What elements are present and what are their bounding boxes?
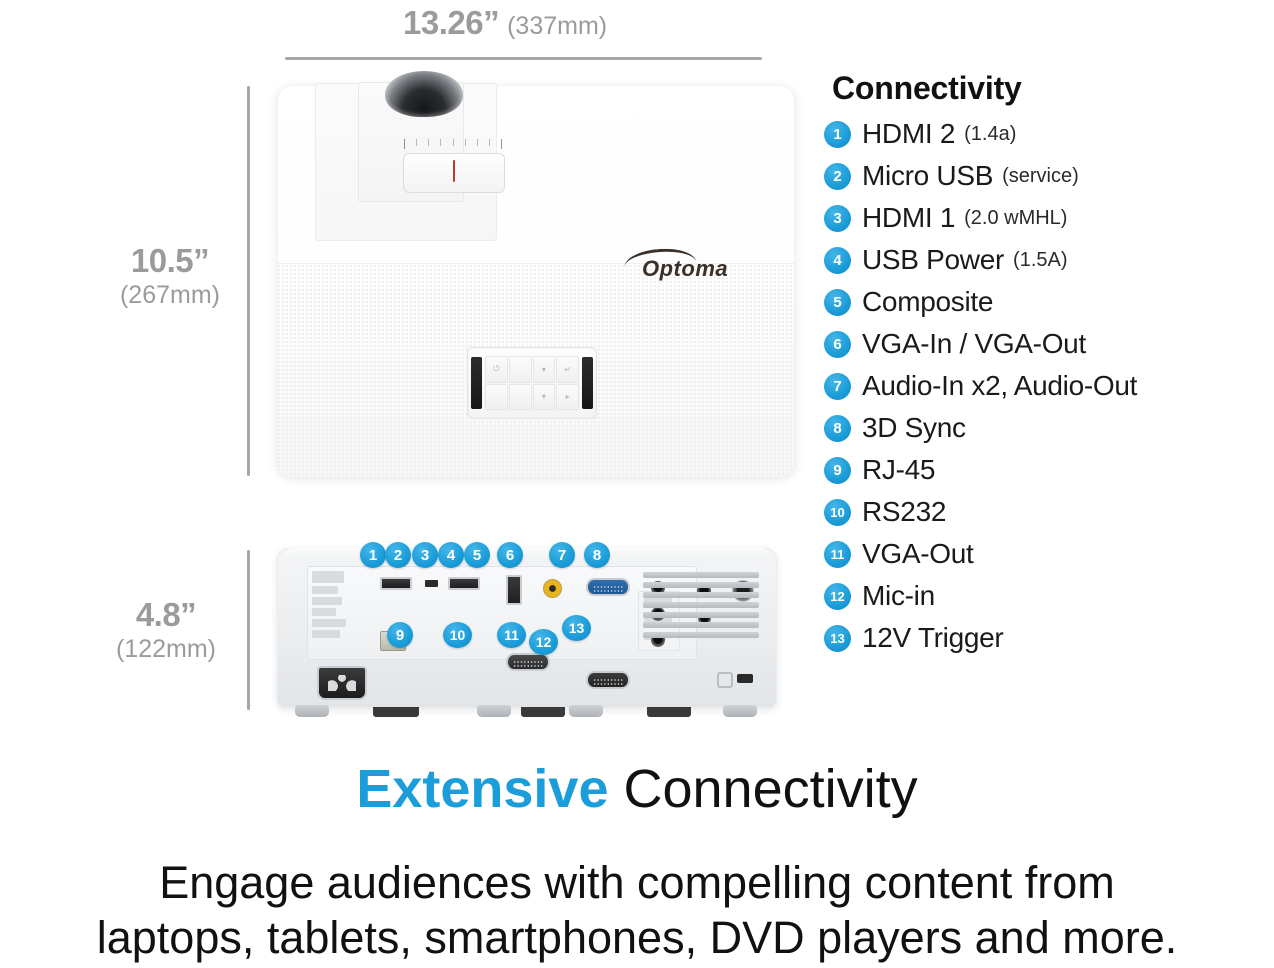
- list-item: 13 12V Trigger: [824, 617, 1274, 659]
- projector-foot: [477, 705, 511, 717]
- rear-base-dark-1: [373, 707, 419, 717]
- projector-foot: [723, 705, 757, 717]
- tagline-line-1: Engage audiences with compelling content…: [0, 856, 1274, 911]
- kensington-lock-slot: [737, 674, 753, 683]
- headline-accent: Extensive: [356, 759, 623, 819]
- panel-edge-right: [582, 357, 593, 409]
- rear-callout-9: 9: [387, 622, 413, 648]
- connectivity-label: Composite: [862, 286, 993, 318]
- port-usb-power: [506, 575, 522, 605]
- connectivity-note: (2.0 wMHL): [964, 207, 1067, 230]
- key-right[interactable]: ▸: [556, 384, 579, 411]
- list-item: 12 Mic-in: [824, 575, 1274, 617]
- port-micro-usb: [425, 580, 438, 587]
- dimension-depth-mm: (122mm): [96, 637, 236, 662]
- connectivity-badge: 9: [824, 457, 851, 484]
- key-up[interactable]: ▾: [533, 356, 556, 383]
- connectivity-label: RS232: [862, 496, 946, 528]
- infographic-canvas: 13.26”(337mm) 10.5” (267mm) 4.8” (122mm): [0, 0, 1274, 968]
- rear-callout-13: 13: [562, 615, 591, 641]
- tagline: Engage audiences with compelling content…: [0, 856, 1274, 966]
- dimension-line-height: [247, 86, 250, 476]
- key-blank-1[interactable]: [509, 356, 532, 383]
- connectivity-label: HDMI 2: [862, 118, 955, 150]
- connectivity-badge: 2: [824, 163, 851, 190]
- connectivity-label: VGA-In / VGA-Out: [862, 328, 1086, 360]
- slider-indicator: [453, 160, 455, 182]
- list-item: 6 VGA-In / VGA-Out: [824, 323, 1274, 365]
- headline: Extensive Connectivity: [0, 762, 1274, 816]
- connectivity-label: 3D Sync: [862, 412, 966, 444]
- connectivity-badge: 12: [824, 583, 851, 610]
- connectivity-label: VGA-Out: [862, 538, 974, 570]
- port-rs232: [506, 653, 550, 671]
- connectivity-label: USB Power: [862, 244, 1004, 276]
- key-blank-2[interactable]: [485, 384, 508, 411]
- lens-recess: [358, 82, 464, 202]
- connectivity-badge: 6: [824, 331, 851, 358]
- rear-callout-5: 5: [464, 542, 490, 568]
- logo-wordmark: Optoma: [642, 256, 728, 282]
- dimension-width-mm: (337mm): [507, 12, 607, 40]
- connectivity-panel: Connectivity 1 HDMI 2 (1.4a) 2 Micro USB…: [824, 70, 1274, 659]
- dimension-height: 10.5” (267mm): [100, 244, 240, 308]
- connectivity-note: (1.4a): [964, 123, 1016, 146]
- connectivity-label: Micro USB: [862, 160, 993, 192]
- rear-callout-3: 3: [412, 542, 438, 568]
- projector-top-view: Optoma ⏻ ▾ ↵ ▾ ▸: [277, 85, 795, 477]
- headline-rest: Connectivity: [624, 759, 918, 819]
- rear-base-dark-3: [647, 707, 691, 717]
- connectivity-badge: 13: [824, 625, 851, 652]
- projector-lens: [385, 71, 463, 117]
- connectivity-badge: 3: [824, 205, 851, 232]
- rear-callout-7: 7: [549, 542, 575, 568]
- connectivity-badge: 10: [824, 499, 851, 526]
- key-down[interactable]: ▾: [533, 384, 556, 411]
- dimension-width: 13.26”(337mm): [403, 6, 607, 39]
- list-item: 10 RS232: [824, 491, 1274, 533]
- list-item: 4 USB Power (1.5A): [824, 239, 1274, 281]
- rear-callout-10: 10: [443, 622, 472, 648]
- dimension-height-inches: 10.5”: [100, 244, 240, 277]
- dimension-width-inches: 13.26”: [403, 4, 499, 41]
- connectivity-label: HDMI 1: [862, 202, 955, 234]
- list-item: 9 RJ-45: [824, 449, 1274, 491]
- dimension-height-mm: (267mm): [100, 283, 240, 308]
- dimension-line-depth: [247, 550, 250, 710]
- connectivity-title: Connectivity: [832, 70, 1274, 107]
- list-item: 3 HDMI 1 (2.0 wMHL): [824, 197, 1274, 239]
- panel-edge-left: [471, 357, 482, 409]
- kensington-lock-icon: [717, 672, 733, 688]
- tagline-line-2: laptops, tablets, smartphones, DVD playe…: [0, 911, 1274, 966]
- connectivity-badge: 4: [824, 247, 851, 274]
- projector-foot: [295, 705, 329, 717]
- rear-callout-1: 1: [360, 542, 386, 568]
- ac-power-inlet: [317, 666, 367, 700]
- port-hdmi-1: [448, 577, 480, 590]
- list-item: 8 3D Sync: [824, 407, 1274, 449]
- connectivity-list: 1 HDMI 2 (1.4a) 2 Micro USB (service) 3 …: [824, 113, 1274, 659]
- connectivity-label: RJ-45: [862, 454, 935, 486]
- zoom-scale-ticks: [404, 139, 502, 149]
- projector-rear-view: [277, 548, 777, 708]
- port-hdmi-2: [380, 577, 412, 590]
- list-item: 1 HDMI 2 (1.4a): [824, 113, 1274, 155]
- io-panel-recess: [307, 566, 697, 660]
- rear-callout-6: 6: [497, 542, 523, 568]
- rear-top-lip: [283, 548, 771, 564]
- connectivity-label: Mic-in: [862, 580, 935, 612]
- io-silkscreen-labels: [312, 571, 374, 655]
- projector-foot: [569, 705, 603, 717]
- dimension-line-width: [285, 57, 762, 60]
- optoma-logo: Optoma: [622, 245, 742, 289]
- list-item: 7 Audio-In x2, Audio-Out: [824, 365, 1274, 407]
- connectivity-badge: 5: [824, 289, 851, 316]
- control-panel: ⏻ ▾ ↵ ▾ ▸: [467, 347, 597, 419]
- port-vga-out: [586, 671, 630, 689]
- connectivity-badge: 8: [824, 415, 851, 442]
- dimension-depth: 4.8” (122mm): [96, 598, 236, 662]
- focus-zoom-slider: [403, 153, 505, 193]
- rear-callout-11: 11: [497, 622, 526, 648]
- key-enter[interactable]: ↵: [556, 356, 579, 383]
- connectivity-badge: 7: [824, 373, 851, 400]
- list-item: 2 Micro USB (service): [824, 155, 1274, 197]
- connectivity-note: (service): [1002, 165, 1079, 188]
- rear-exhaust-vent: [643, 572, 759, 638]
- rear-callout-12: 12: [529, 629, 558, 655]
- rear-callout-8: 8: [584, 542, 610, 568]
- rear-base-dark-2: [521, 707, 565, 717]
- connectivity-label: 12V Trigger: [862, 622, 1003, 654]
- connectivity-label: Audio-In x2, Audio-Out: [862, 370, 1137, 402]
- power-button[interactable]: ⏻: [485, 356, 508, 383]
- connectivity-note: (1.5A): [1013, 249, 1067, 272]
- lens-housing: [315, 83, 497, 241]
- connectivity-badge: 11: [824, 541, 851, 568]
- dimension-depth-inches: 4.8”: [96, 598, 236, 631]
- rear-callout-2: 2: [385, 542, 411, 568]
- control-panel-keys: ⏻ ▾ ↵ ▾ ▸: [485, 356, 579, 410]
- port-composite: [543, 579, 562, 598]
- list-item: 5 Composite: [824, 281, 1274, 323]
- port-vga-in: [586, 578, 630, 596]
- key-blank-3[interactable]: [509, 384, 532, 411]
- rear-callout-4: 4: [438, 542, 464, 568]
- list-item: 11 VGA-Out: [824, 533, 1274, 575]
- connectivity-badge: 1: [824, 121, 851, 148]
